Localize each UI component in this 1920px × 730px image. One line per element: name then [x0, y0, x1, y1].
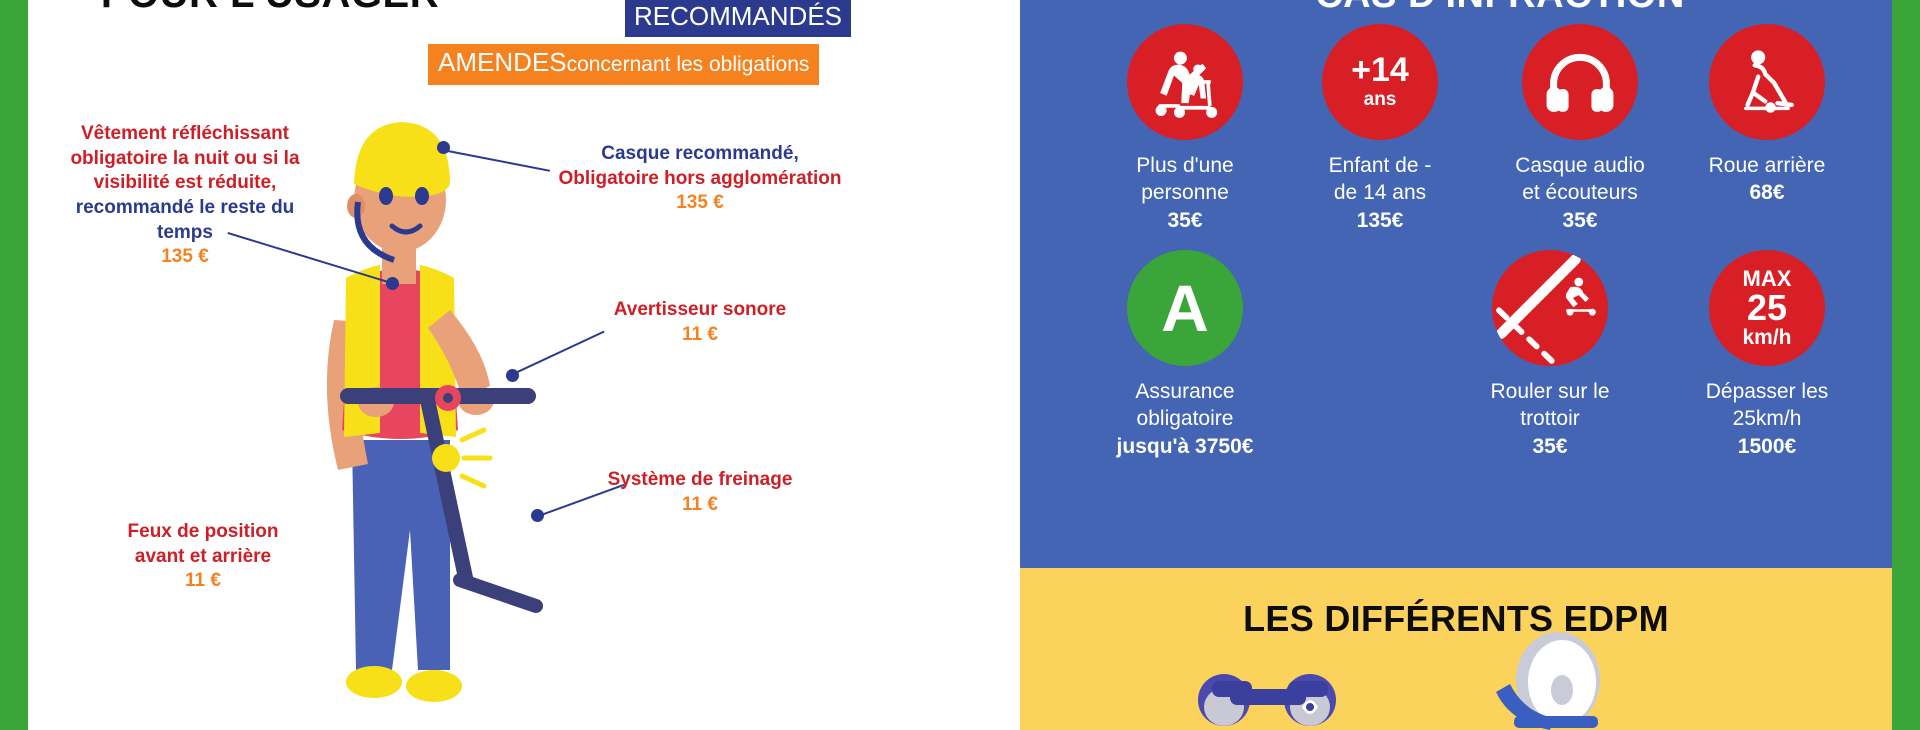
label-line: trottoir: [1520, 407, 1580, 430]
legend-chip-recommandes: RECOMMANDÉS: [625, 0, 851, 37]
green-bar-left: [0, 0, 28, 730]
infraction-item-casque-audio: Casque audio et écouteurs 35€: [1485, 24, 1675, 234]
infraction-label: Plus d'une personne 35€: [1090, 152, 1280, 234]
two-people-scooter-icon: [1127, 24, 1243, 140]
callout-feux-de-position: Feux de position avant et arrière 11 €: [78, 520, 328, 594]
label-line: Dépasser les: [1706, 380, 1829, 403]
headphones-icon: [1522, 24, 1638, 140]
page-title-edpm: LES DIFFÉRENTS EDPM: [1020, 598, 1892, 640]
callout-line: temps: [55, 221, 315, 246]
label-line: Roue arrière: [1709, 154, 1826, 177]
no-sidewalk-icon: [1492, 250, 1608, 366]
age-unit: ans: [1364, 89, 1397, 112]
infraction-label: Enfant de - de 14 ans 135€: [1285, 152, 1475, 234]
label-line: obligatoire: [1137, 407, 1234, 430]
callout-vetement-reflechissant: Vêtement réfléchissant obligatoire la nu…: [55, 122, 315, 270]
callout-casque: Casque recommandé, Obligatoire hors aggl…: [545, 142, 855, 216]
infraction-label: Roue arrière 68€: [1672, 152, 1862, 207]
label-line: Assurance: [1135, 380, 1234, 403]
callout-line: Feux de position: [78, 520, 328, 545]
age-value: +14: [1351, 53, 1409, 87]
rear-wheel-scooter-icon: [1709, 24, 1825, 140]
label-line: Rouler sur le: [1490, 380, 1609, 403]
green-bar-right: [1892, 0, 1920, 730]
page-title-cas-infraction: CAS D'INFRACTION: [1180, 0, 1820, 17]
callout-line: Avertisseur sonore: [545, 298, 855, 323]
callout-line: Casque recommandé,: [545, 142, 855, 167]
infraction-fine: 135€: [1285, 207, 1475, 234]
page-title-pour-usager: POUR L'USAGER: [60, 0, 480, 17]
infraction-label: Rouler sur le trottoir 35€: [1455, 378, 1645, 460]
infraction-label: Dépasser les 25km/h 1500€: [1672, 378, 1862, 460]
legend-amendes-strong: AMENDES: [438, 47, 567, 77]
bottom-panel-edpm: [1020, 568, 1892, 730]
callout-line: obligatoire la nuit ou si la: [55, 147, 315, 172]
infraction-item-depasser-25: MAX 25 km/h Dépasser les 25km/h 1500€: [1672, 250, 1862, 460]
max-value: 25: [1747, 290, 1787, 326]
infraction-fine: 35€: [1485, 207, 1675, 234]
callout-line: recommandé le reste du: [55, 196, 315, 221]
label-line: Casque audio: [1515, 154, 1645, 177]
infraction-fine: jusqu'à 3750€: [1090, 433, 1280, 460]
callout-line: Système de freinage: [545, 468, 855, 493]
callout-line: avant et arrière: [78, 545, 328, 570]
infraction-fine: 1500€: [1672, 433, 1862, 460]
infraction-fine: 35€: [1455, 433, 1645, 460]
infraction-label: Assurance obligatoire jusqu'à 3750€: [1090, 378, 1280, 460]
infraction-label: Casque audio et écouteurs 35€: [1485, 152, 1675, 234]
callout-avertisseur-sonore: Avertisseur sonore 11 €: [545, 298, 855, 347]
infraction-fine: 35€: [1090, 207, 1280, 234]
infraction-item-rouler-trottoir: Rouler sur le trottoir 35€: [1455, 250, 1645, 460]
label-line: de 14 ans: [1334, 181, 1426, 204]
max-speed-icon: MAX 25 km/h: [1709, 250, 1825, 366]
infraction-item-roue-arriere: Roue arrière 68€: [1672, 24, 1862, 207]
callout-amount: 135 €: [55, 245, 315, 270]
infraction-item-assurance: A Assurance obligatoire jusqu'à 3750€: [1090, 250, 1280, 460]
insurance-a-icon: A: [1127, 250, 1243, 366]
callout-line: visibilité est réduite,: [55, 171, 315, 196]
label-line: personne: [1141, 181, 1229, 204]
callout-amount: 11 €: [78, 569, 328, 594]
callout-amount: 11 €: [545, 493, 855, 518]
label-line: Plus d'une: [1136, 154, 1233, 177]
callout-line: Obligatoire hors agglomération: [545, 167, 855, 192]
infographic-root: POUR L'USAGER RECOMMANDÉS AMENDESconcern…: [0, 0, 1920, 730]
max-unit: km/h: [1742, 326, 1791, 349]
insurance-letter: A: [1161, 275, 1209, 341]
legend-amendes-rest: concernant les obligations: [567, 53, 810, 76]
monowheel-icon: [1480, 628, 1630, 730]
callout-amount: 11 €: [545, 323, 855, 348]
age-plus-14-icon: +14 ans: [1322, 24, 1438, 140]
callout-amount: 135 €: [545, 191, 855, 216]
infraction-item-plus-une-personne: Plus d'une personne 35€: [1090, 24, 1280, 234]
infraction-fine: 68€: [1672, 179, 1862, 206]
label-line: Enfant de -: [1329, 154, 1432, 177]
infraction-item-enfant-moins-14: +14 ans Enfant de - de 14 ans 135€: [1285, 24, 1475, 234]
callout-systeme-freinage: Système de freinage 11 €: [545, 468, 855, 517]
callout-dot-vetement: [386, 277, 399, 290]
label-line: et écouteurs: [1522, 181, 1638, 204]
label-line: 25km/h: [1733, 407, 1802, 430]
hoverboard-icon: [1192, 655, 1352, 730]
callout-line: Vêtement réfléchissant: [55, 122, 315, 147]
legend-chip-amendes: AMENDESconcernant les obligations: [428, 44, 819, 85]
